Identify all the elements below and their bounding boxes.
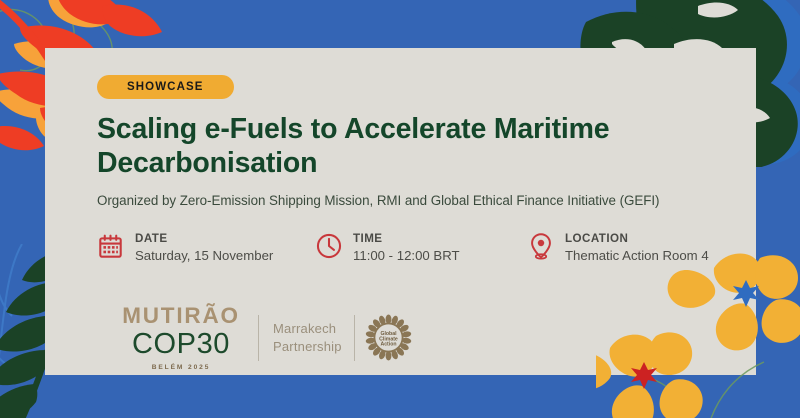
clock-icon <box>315 231 342 261</box>
detail-date-label: DATE <box>135 232 273 246</box>
detail-date: DATE Saturday, 15 November <box>97 231 315 265</box>
detail-time-value: 11:00 - 12:00 BRT <box>353 247 460 266</box>
marrakech-partnership-logo: Marrakech Partnership <box>273 320 342 355</box>
seal-line3: Action <box>380 342 396 348</box>
organizer-line: Organized by Zero-Emission Shipping Miss… <box>97 193 732 208</box>
marrakech-partnership-line1: Marrakech <box>273 320 342 338</box>
event-card: SHOWCASE Scaling e-Fuels to Accelerate M… <box>45 48 756 375</box>
page-title: Scaling e-Fuels to Accelerate Maritime D… <box>97 113 697 180</box>
event-details-row: DATE Saturday, 15 November TIME 11:0 <box>97 231 732 265</box>
detail-location-label: LOCATION <box>565 232 709 246</box>
detail-location-value: Thematic Action Room 4 <box>565 247 709 266</box>
detail-time: TIME 11:00 - 12:00 BRT <box>315 231 527 265</box>
detail-date-value: Saturday, 15 November <box>135 247 273 266</box>
cop30-logo-cop30: COP30 <box>122 329 240 360</box>
calendar-icon <box>97 231 124 261</box>
status-badge: SHOWCASE <box>97 75 234 99</box>
detail-time-label: TIME <box>353 232 460 246</box>
detail-location: LOCATION Thematic Action Room 4 <box>527 231 709 265</box>
location-pin-icon <box>527 231 554 261</box>
logo-divider-left <box>258 315 259 361</box>
poster-canvas: SHOWCASE Scaling e-Fuels to Accelerate M… <box>0 0 800 418</box>
logo-divider-right <box>354 315 355 361</box>
cop30-logo-mutirao: MUTIRÃO <box>122 305 240 328</box>
marrakech-partnership-line2: Partnership <box>273 338 342 356</box>
cop30-logo: MUTIRÃO COP30 BELÉM 2025 <box>122 305 240 371</box>
cop30-logo-belem: BELÉM 2025 <box>122 364 240 371</box>
logo-strip: MUTIRÃO COP30 BELÉM 2025 Marrakech Partn… <box>122 305 412 371</box>
global-climate-action-seal: Global Climate Action <box>365 314 412 361</box>
